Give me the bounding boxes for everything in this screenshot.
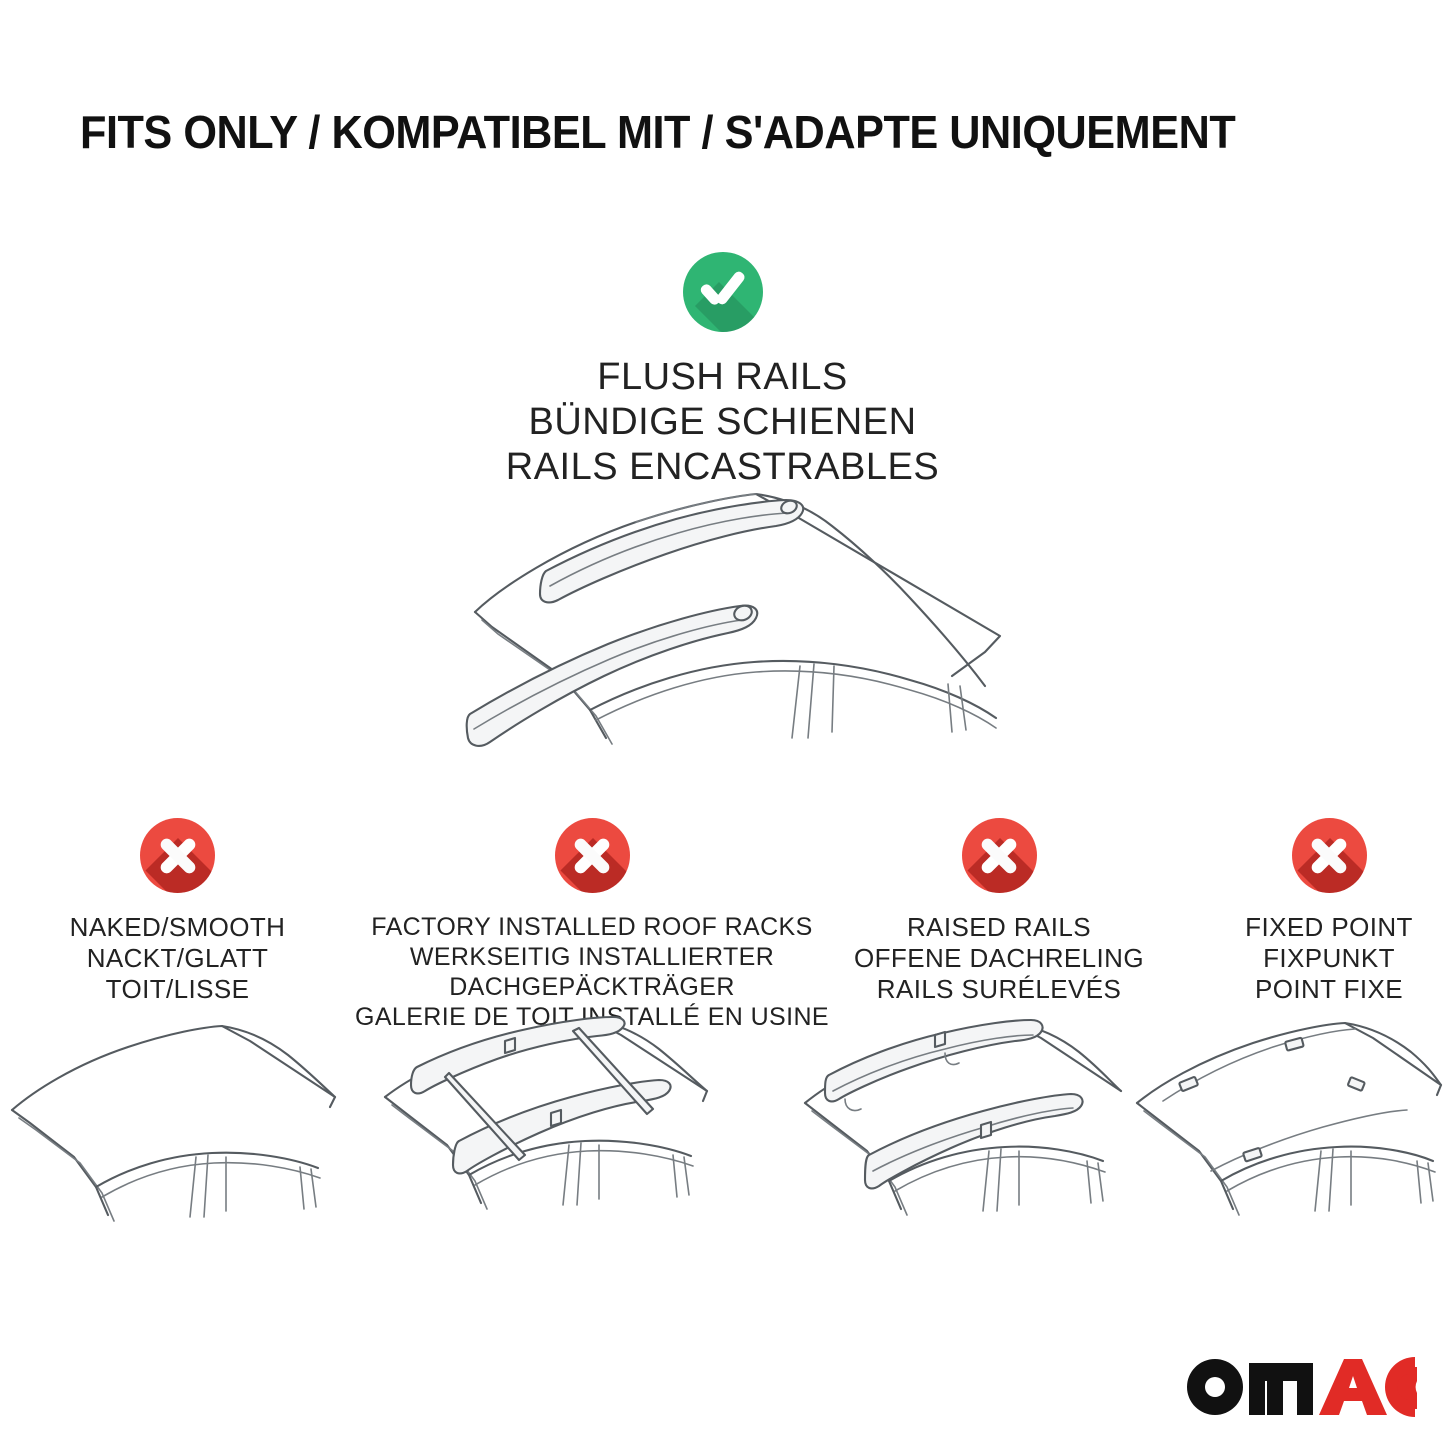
incompatible-item-raised-rails: RAISED RAILS OFFENE DACHRELING RAILS SUR… (829, 818, 1169, 1005)
incompatible-labels: RAISED RAILS OFFENE DACHRELING RAILS SUR… (829, 912, 1169, 1005)
car-roof-flush-rails-illustration (440, 470, 1040, 770)
label-en: FIXED POINT (1169, 912, 1445, 943)
incompatible-item-factory-installed-roof-racks: FACTORY INSTALLED ROOF RACKS WERKSEITIG … (355, 818, 829, 1032)
compatible-label-de: BÜNDIGE SCHIENEN (0, 400, 1445, 445)
check-circle-icon (683, 252, 763, 332)
logo-letter-a (1319, 1359, 1387, 1415)
x-glyph (976, 833, 1022, 879)
x-circle-icon (555, 818, 630, 893)
x-circle-icon (962, 818, 1037, 893)
incompatible-section: NAKED/SMOOTH NACKT/GLATT TOIT/LISSE FACT… (0, 818, 1445, 1032)
check-glyph (703, 274, 745, 304)
label-de: NACKT/GLATT (0, 943, 355, 974)
label-de-line1: WERKSEITIG INSTALLIERTER (355, 942, 829, 972)
compatible-section: FLUSH RAILS BÜNDIGE SCHIENEN RAILS ENCAS… (0, 252, 1445, 490)
label-fr: POINT FIXE (1169, 974, 1445, 1005)
logo-letter-m (1249, 1363, 1313, 1415)
incompatible-illustrations (0, 1005, 1445, 1240)
label-en: NAKED/SMOOTH (0, 912, 355, 943)
car-roof-raised-rails-illustration (785, 1005, 1125, 1240)
logo-letter-o (1187, 1359, 1243, 1415)
car-roof-naked-smooth-illustration (0, 1005, 355, 1240)
label-de-line2: DACHGEPÄCKTRÄGER (355, 972, 829, 1002)
car-roof-factory-rack-illustration (355, 1005, 785, 1240)
label-de: FIXPUNKT (1169, 943, 1445, 974)
incompatible-item-naked-smooth: NAKED/SMOOTH NACKT/GLATT TOIT/LISSE (0, 818, 355, 1005)
incompatible-item-fixed-point: FIXED POINT FIXPUNKT POINT FIXE (1169, 818, 1445, 1005)
x-circle-icon (140, 818, 215, 893)
fitment-infographic: FITS ONLY / KOMPATIBEL MIT / S'ADAPTE UN… (0, 0, 1445, 1445)
incompatible-labels: NAKED/SMOOTH NACKT/GLATT TOIT/LISSE (0, 912, 355, 1005)
page-title: FITS ONLY / KOMPATIBEL MIT / S'ADAPTE UN… (80, 104, 1302, 160)
x-glyph (1306, 833, 1352, 879)
compatible-label-en: FLUSH RAILS (0, 355, 1445, 400)
omac-logo (1179, 1351, 1417, 1423)
label-fr: TOIT/LISSE (0, 974, 355, 1005)
x-glyph (569, 833, 615, 879)
label-de: OFFENE DACHRELING (829, 943, 1169, 974)
label-en: RAISED RAILS (829, 912, 1169, 943)
incompatible-labels: FIXED POINT FIXPUNKT POINT FIXE (1169, 912, 1445, 1005)
label-fr: RAILS SURÉLEVÉS (829, 974, 1169, 1005)
car-roof-fixed-point-illustration (1125, 1005, 1445, 1240)
label-en: FACTORY INSTALLED ROOF RACKS (355, 912, 829, 942)
x-glyph (155, 833, 201, 879)
x-circle-icon (1292, 818, 1367, 893)
